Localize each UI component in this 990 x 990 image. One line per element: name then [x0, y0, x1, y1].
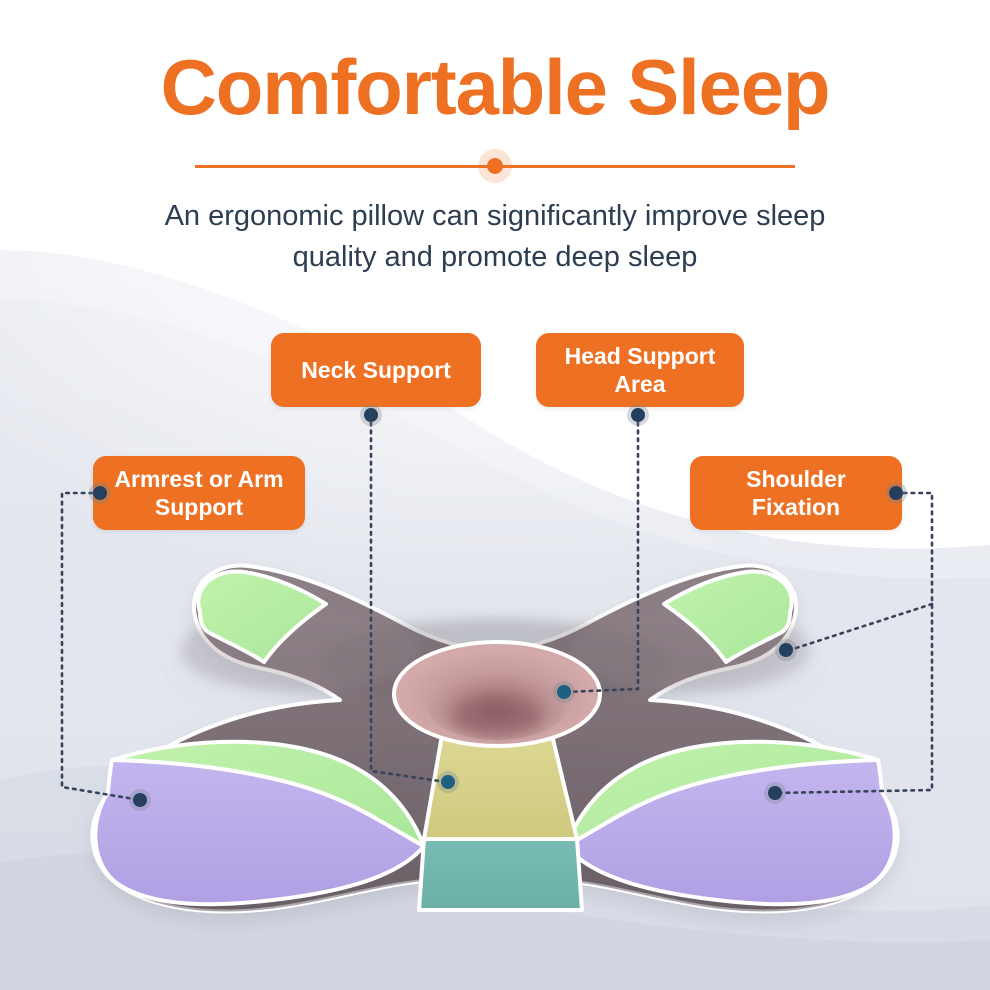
callout-neck-support[interactable]: Neck Support [271, 333, 481, 407]
head-pin [627, 404, 649, 426]
divider-dot-icon [487, 158, 503, 174]
neck-pin [360, 404, 382, 426]
shoulder-target-pin [775, 639, 797, 661]
callout-neck-support-label: Neck Support [301, 356, 451, 384]
header: Comfortable Sleep An ergonomic pillow ca… [0, 0, 990, 278]
armrest-target-pin [129, 789, 151, 811]
page-subtitle: An ergonomic pillow can significantly im… [135, 196, 855, 278]
callout-armrest-or-arm-support-label: Armrest or Arm Support [107, 465, 291, 521]
callout-head-support-area-label: Head Support Area [550, 342, 730, 398]
front-face-panel [419, 839, 582, 910]
neck-target-pin [437, 771, 459, 793]
title-divider [0, 146, 990, 186]
callout-shoulder-fixation-label: Shoulder Fixation [704, 465, 888, 521]
shoulder-pin [885, 482, 907, 504]
callout-armrest-or-arm-support[interactable]: Armrest or Arm Support [93, 456, 305, 530]
armrest-right-target-pin [764, 782, 786, 804]
armrest-pin [89, 482, 111, 504]
infographic-canvas: Neck Support Head Support Area Armrest o… [0, 0, 990, 990]
page-title: Comfortable Sleep [0, 0, 990, 126]
callout-head-support-area[interactable]: Head Support Area [536, 333, 744, 407]
callout-shoulder-fixation[interactable]: Shoulder Fixation [690, 456, 902, 530]
head-target-pin [553, 681, 575, 703]
